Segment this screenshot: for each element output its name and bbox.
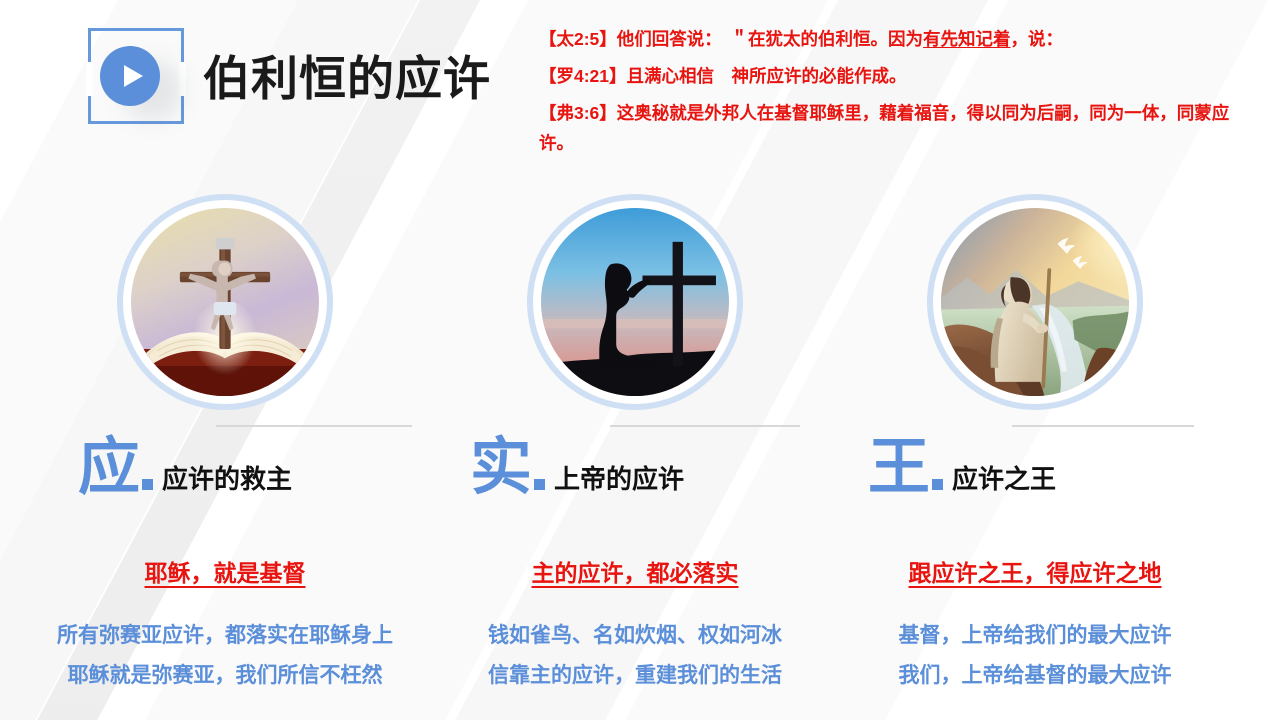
play-button-icon <box>100 46 160 106</box>
column-body-text: 所有弥赛亚应许，都落实在耶稣身上 耶稣就是弥赛亚，我们所信不枉然 <box>20 616 430 696</box>
big-character: 应 <box>78 439 140 498</box>
column-red-heading: 耶稣，就是基督 <box>20 554 430 588</box>
photo-ring <box>527 194 743 410</box>
column-red-heading: 跟应许之王，得应许之地 <box>830 554 1240 588</box>
verse-reference: 【罗4:21】 <box>539 66 627 86</box>
column-promise-savior: 应 应许的救主 耶稣，就是基督 所有弥赛亚应许，都落实在耶稣身上 耶稣就是弥赛亚… <box>20 186 430 720</box>
body-line: 基督，上帝给我们的最大应许 <box>830 616 1240 656</box>
page-title: 伯利恒的应许 <box>203 40 491 109</box>
column-body-text: 钱如雀鸟、名如炊烟、权如河冰 信靠主的应许，重建我们的生活 <box>430 616 840 696</box>
body-line: 耶稣就是弥赛亚，我们所信不枉然 <box>20 656 430 696</box>
body-line: 所有弥赛亚应许，都落实在耶稣身上 <box>20 616 430 656</box>
column-king-of-promise: 王 应许之王 跟应许之王，得应许之地 基督，上帝给我们的最大应许 我们，上帝给基… <box>830 186 1240 720</box>
photo-ring <box>927 194 1143 410</box>
verse-text-underlined: 有先知记着 <box>923 29 1011 49</box>
column-subtitle: 上帝的应许 <box>554 466 684 498</box>
scripture-block: 【太2:5】他们回答说： ＂在犹太的伯利恒。因为有先知记着，说： 【罗4:21】… <box>539 24 1254 158</box>
column-subtitle: 应许的救主 <box>162 466 292 498</box>
verse-text-pre: 他们回答说： ＂在犹太的伯利恒。因为 <box>617 29 923 49</box>
column-gods-promise: 实 上帝的应许 主的应许，都必落实 钱如雀鸟、名如炊烟、权如河冰 信靠主的应许，… <box>430 186 840 720</box>
square-dot-icon <box>932 479 943 490</box>
square-dot-icon <box>142 479 153 490</box>
verse-text-pre: 且满心相信 神所应许的必能作成。 <box>627 66 907 86</box>
photo-ring <box>117 194 333 410</box>
scripture-verse: 【罗4:21】且满心相信 神所应许的必能作成。 <box>539 61 1254 91</box>
body-line: 信靠主的应许，重建我们的生活 <box>430 656 840 696</box>
play-triangle-icon <box>124 65 143 87</box>
praying-silhouette-beside-cross-photo <box>541 208 729 396</box>
verse-text-post: ，说： <box>1011 29 1064 49</box>
column-heading: 应 应许的救主 <box>78 426 292 498</box>
three-column-section: 应 应许的救主 耶稣，就是基督 所有弥赛亚应许，都落实在耶稣身上 耶稣就是弥赛亚… <box>0 186 1280 720</box>
column-red-heading: 主的应许，都必落实 <box>430 554 840 588</box>
column-subtitle: 应许之王 <box>952 466 1056 498</box>
column-body-text: 基督，上帝给我们的最大应许 我们，上帝给基督的最大应许 <box>830 616 1240 696</box>
jesus-with-staff-overlooking-valley-photo <box>941 208 1129 396</box>
crucifix-over-open-bible-photo <box>131 208 319 396</box>
body-line: 钱如雀鸟、名如炊烟、权如河冰 <box>430 616 840 656</box>
scripture-verse: 【弗3:6】这奥秘就是外邦人在基督耶稣里，藉着福音，得以同为后嗣，同为一体，同蒙… <box>539 98 1254 158</box>
column-heading: 实 上帝的应许 <box>470 426 684 498</box>
logo-mark <box>88 28 184 124</box>
slide-canvas: 伯利恒的应许 【太2:5】他们回答说： ＂在犹太的伯利恒。因为有先知记着，说： … <box>0 0 1280 720</box>
big-character: 实 <box>470 439 532 498</box>
body-line: 我们，上帝给基督的最大应许 <box>830 656 1240 696</box>
column-heading: 王 应许之王 <box>868 426 1056 498</box>
verse-reference: 【弗3:6】 <box>539 103 617 123</box>
verse-reference: 【太2:5】 <box>539 29 617 49</box>
scripture-verse: 【太2:5】他们回答说： ＂在犹太的伯利恒。因为有先知记着，说： <box>539 24 1254 54</box>
big-character: 王 <box>868 439 930 498</box>
square-dot-icon <box>534 479 545 490</box>
verse-text-pre: 这奥秘就是外邦人在基督耶稣里，藉着福音，得以同为后嗣，同为一体，同蒙应许。 <box>539 103 1229 153</box>
slide-header: 伯利恒的应许 【太2:5】他们回答说： ＂在犹太的伯利恒。因为有先知记着，说： … <box>0 0 1280 180</box>
